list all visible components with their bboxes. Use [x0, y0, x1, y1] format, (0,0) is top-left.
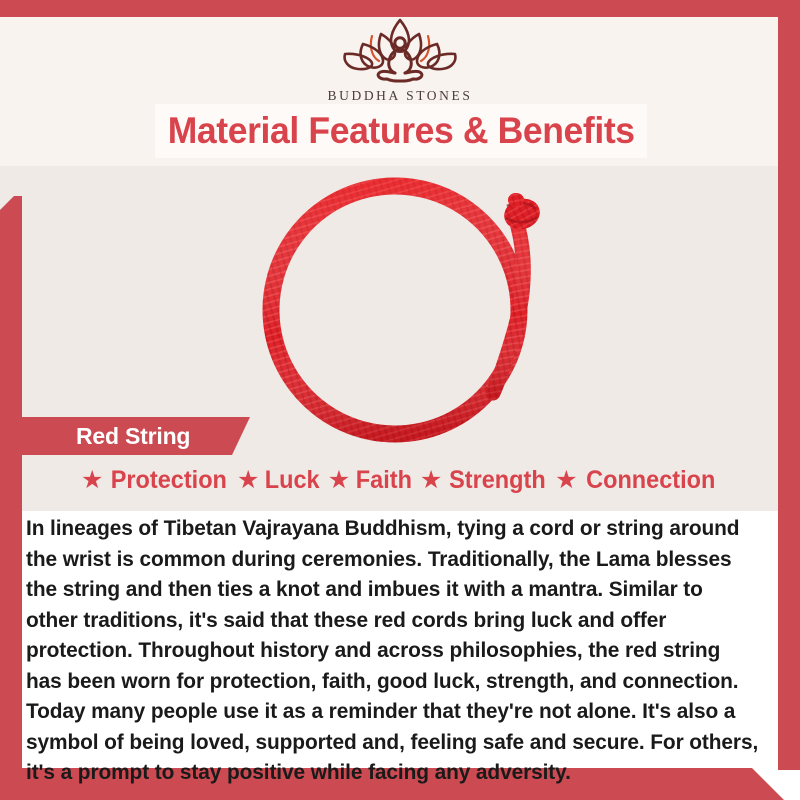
infographic-page: BUDDHA STONES Material Features & Benefi…: [0, 0, 800, 800]
description-paragraph: In lineages of Tibetan Vajrayana Buddhis…: [26, 513, 759, 788]
star-icon: ★: [420, 468, 442, 493]
benefit-item-faith: ★ Faith: [328, 466, 414, 495]
star-icon: ★: [555, 468, 577, 493]
page-title: Material Features & Benefits: [168, 110, 635, 152]
benefit-item-protection: ★ Protection: [81, 466, 231, 495]
star-icon: ★: [237, 468, 259, 493]
frame-bar-right: [778, 0, 800, 770]
star-icon: ★: [328, 468, 350, 493]
adjustable-knot-icon: [500, 193, 544, 234]
bracelet-illustration: [235, 160, 580, 445]
frame-bar-left: [0, 196, 22, 800]
benefit-label: Faith: [356, 466, 412, 495]
star-icon: ★: [81, 468, 103, 493]
material-label-banner: Red String: [22, 417, 250, 455]
benefit-label: Strength: [449, 466, 546, 495]
lotus-meditation-logo-icon: [325, 14, 475, 86]
title-banner: Material Features & Benefits: [155, 104, 647, 158]
benefit-label: Connection: [586, 466, 715, 495]
brand-logo: BUDDHA STONES: [0, 14, 800, 104]
material-label-text: Red String: [76, 423, 190, 450]
benefit-item-connection: ★ Connection: [555, 466, 719, 495]
benefit-label: Protection: [111, 466, 227, 495]
benefit-label: Luck: [265, 466, 320, 495]
benefits-list: ★ Protection ★ Luck ★ Faith ★ Strength ★…: [30, 466, 770, 495]
benefit-item-strength: ★ Strength: [420, 466, 549, 495]
product-image-red-string-bracelet: [235, 160, 580, 445]
benefit-item-luck: ★ Luck: [237, 466, 322, 495]
brand-name: BUDDHA STONES: [0, 88, 800, 104]
